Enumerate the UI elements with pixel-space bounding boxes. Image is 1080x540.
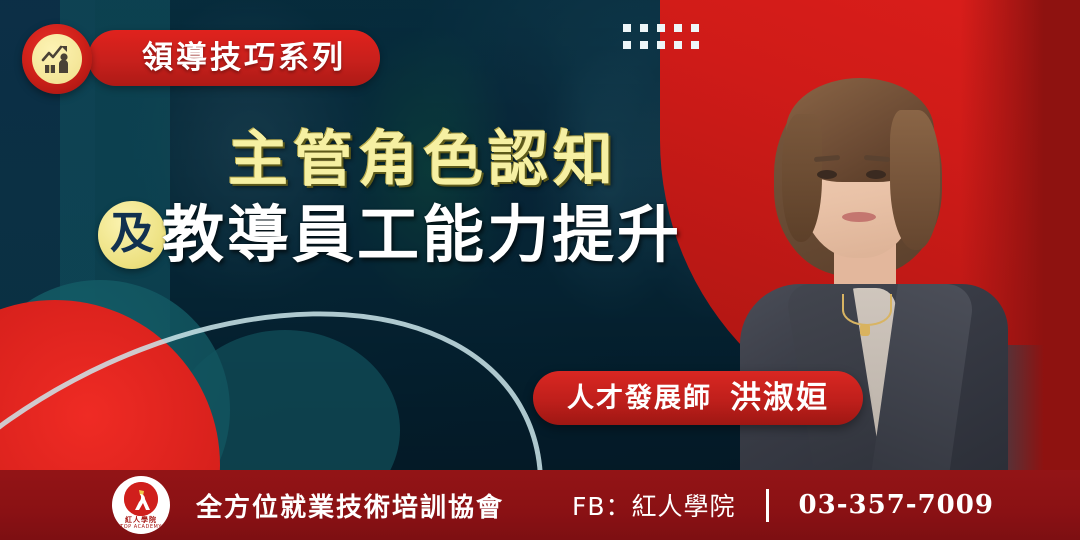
facebook-handle: FB：紅人學院 — [572, 487, 736, 523]
speaker-name-banner: 人才發展師 洪淑姮 — [533, 371, 863, 425]
dot-grid-decor — [623, 24, 699, 49]
poster-canvas: 領導技巧系列 主管角色認知 及 教導員工能力提升 — [0, 0, 1080, 540]
footer-content: 紅人學院 TOP ACADEMY 全方位就業技術培訓協會 FB：紅人學院 03-… — [112, 476, 994, 534]
series-badge-banner: 領導技巧系列 — [88, 30, 380, 86]
phone-number: 03-357-7009 — [799, 490, 994, 520]
footer-bar: 紅人學院 TOP ACADEMY 全方位就業技術培訓協會 FB：紅人學院 03-… — [0, 470, 1080, 540]
runner-logo-icon: 紅人學院 TOP ACADEMY — [112, 476, 170, 534]
chart-people-icon — [32, 34, 82, 84]
connector-circle: 及 — [98, 201, 166, 269]
title-line-2: 教導員工能力提升 — [162, 202, 682, 267]
speaker-name: 洪淑姮 — [730, 383, 829, 414]
series-badge-label: 領導技巧系列 — [142, 43, 346, 74]
footer-divider — [766, 489, 769, 522]
speaker-role: 人才發展師 — [567, 385, 712, 412]
title-line-1: 主管角色認知 — [228, 128, 800, 193]
title-block: 主管角色認知 及 教導員工能力提升 — [0, 128, 800, 269]
logo-name-en: TOP ACADEMY — [120, 524, 162, 531]
logo-name-zh: 紅人學院 — [125, 517, 157, 524]
connector-label: 及 — [110, 212, 154, 256]
title-line-2-row: 及 教導員工能力提升 — [98, 201, 800, 269]
series-badge-circle — [22, 24, 92, 94]
association-name: 全方位就業技術培訓協會 — [196, 487, 504, 524]
